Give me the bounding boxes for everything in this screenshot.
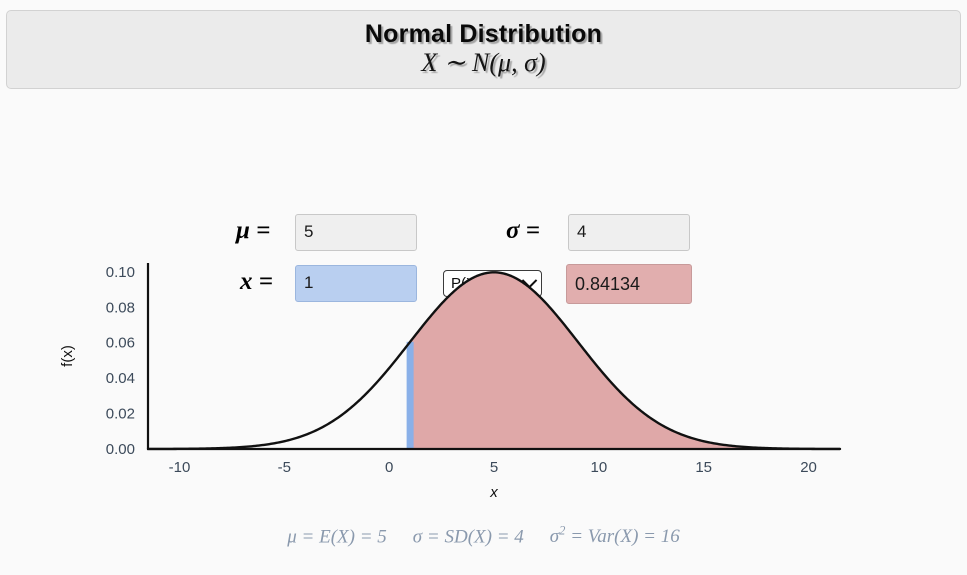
- y-tick-label: 0.00: [106, 441, 135, 458]
- plot-svg: 0.000.020.040.060.080.10 -10-505101520 x…: [0, 230, 967, 510]
- formula-mu: μ: [498, 48, 511, 77]
- shaded-region: [410, 272, 840, 449]
- y-tick-label: 0.02: [106, 406, 135, 423]
- stat-variance-symbol: σ: [550, 526, 559, 547]
- distribution-plot: 0.000.020.040.060.080.10 -10-505101520 x…: [0, 230, 967, 510]
- stat-variance-value: = Var(X) = 16: [565, 526, 679, 547]
- x-tick-label: 20: [800, 459, 817, 476]
- formula-comma: ,: [511, 48, 524, 77]
- formula-suffix: ): [537, 48, 546, 77]
- x-tick-label: -5: [278, 459, 291, 476]
- page-title: Normal Distribution: [365, 21, 602, 47]
- x-tick-label: 15: [695, 459, 712, 476]
- x-tick-labels: -10-505101520: [169, 459, 817, 476]
- stat-mean: μ = E(X) = 5: [287, 526, 387, 547]
- stat-variance: σ2 = Var(X) = 16: [550, 526, 680, 547]
- x-tick-label: 0: [385, 459, 393, 476]
- x-axis-label: x: [489, 484, 498, 501]
- y-tick-label: 0.10: [106, 264, 135, 281]
- x-marker-line: [407, 342, 414, 449]
- y-tick-label: 0.04: [106, 370, 135, 387]
- stat-sd: σ = SD(X) = 4: [413, 526, 524, 547]
- parameter-controls: μ = 5 σ = 4 x = 1 P(X > x) = 0.84134: [0, 104, 967, 204]
- x-tick-label: 5: [490, 459, 498, 476]
- summary-statistics: μ = E(X) = 5σ = SD(X) = 4σ2 = Var(X) = 1…: [0, 524, 967, 548]
- x-tick-label: -10: [169, 459, 191, 476]
- formula-sigma: σ: [524, 48, 537, 77]
- y-tick-label: 0.06: [106, 335, 135, 352]
- y-axis-label: f(x): [59, 345, 76, 367]
- y-tick-labels: 0.000.020.040.060.080.10: [106, 264, 135, 458]
- y-tick-label: 0.08: [106, 299, 135, 316]
- distribution-formula: X ∼ N(μ, σ): [421, 49, 545, 78]
- header-panel: Normal Distribution X ∼ N(μ, σ): [6, 10, 961, 89]
- formula-prefix: X ∼ N(: [421, 48, 498, 77]
- x-tick-label: 10: [591, 459, 608, 476]
